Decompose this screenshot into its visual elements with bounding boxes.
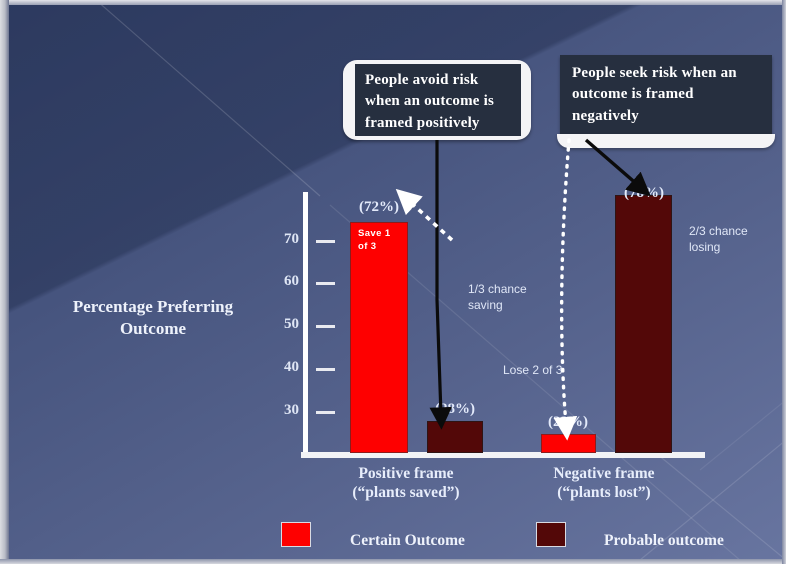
y-tick-label-40: 40 [271,359,299,376]
note-lose-line-1: Lose 2 of 3 [503,362,562,378]
y-tick-30 [316,411,335,414]
category-negative-line-1: Negative frame [504,464,704,483]
note-losing-line-2: losing [689,239,748,255]
value-label-negative-certain: (22%) [528,414,608,431]
arrow-positive-callout-to-probable [437,140,441,415]
note-saving-line-2: saving [468,297,527,313]
bar-positive-probable [427,421,483,453]
slide-border-right [782,0,786,564]
category-negative-line-2: (“plants lost”) [504,483,704,502]
save-label-line-2: of 3 [358,241,391,254]
positive-callout: People avoid risk when an outcome is fra… [343,60,531,140]
y-tick-60 [316,282,335,285]
note-losing-line-1: 2/3 chance [689,223,748,239]
y-tick-70 [316,240,335,243]
category-label-negative: Negative frame (“plants lost”) [504,464,704,503]
y-tick-label-30: 30 [271,402,299,419]
value-label-positive-certain: (72%) [339,199,419,216]
negative-callout-base [557,134,775,148]
save-label-line-1: Save 1 [358,228,391,241]
slide-canvas: People avoid risk when an outcome is fra… [0,0,786,564]
bar-positive-certain-inline-label: Save 1 of 3 [358,228,391,254]
slide-border-bottom [0,559,786,564]
note-lose-two-of-three: Lose 2 of 3 [503,362,562,378]
bar-positive-certain [350,222,408,453]
slide-border-top [0,0,786,5]
category-positive-line-1: Positive frame [306,464,506,483]
value-label-negative-probable: (78%) [604,185,684,202]
slide-border-left [0,0,9,564]
y-axis-title: Percentage Preferring Outcome [38,296,268,340]
note-two-thirds-chance-losing: 2/3 chance losing [689,223,748,255]
arrow-dotted-to-negative-certain [562,140,569,425]
legend-swatch-certain [281,522,311,547]
y-tick-label-60: 60 [271,273,299,290]
note-third-chance-saving: 1/3 chance saving [468,281,527,313]
bar-negative-probable [615,195,672,453]
negative-callout: People seek risk when an outcome is fram… [560,55,772,137]
y-axis [303,192,308,454]
legend-label-certain: Certain Outcome [350,532,465,550]
legend-swatch-probable [536,522,566,547]
bar-negative-certain [541,434,596,453]
value-label-positive-probable: (28%) [415,401,495,418]
y-axis-title-line-2: Outcome [38,318,268,340]
y-tick-50 [316,325,335,328]
y-tick-40 [316,368,335,371]
negative-callout-text: People seek risk when an outcome is fram… [560,55,772,127]
y-tick-label-70: 70 [271,231,299,248]
legend-label-probable: Probable outcome [604,532,724,550]
y-tick-label-50: 50 [271,316,299,333]
category-label-positive: Positive frame (“plants saved”) [306,464,506,503]
y-axis-title-line-1: Percentage Preferring [38,296,268,318]
positive-callout-text: People avoid risk when an outcome is fra… [355,64,521,136]
note-saving-line-1: 1/3 chance [468,281,527,297]
category-positive-line-2: (“plants saved”) [306,483,506,502]
